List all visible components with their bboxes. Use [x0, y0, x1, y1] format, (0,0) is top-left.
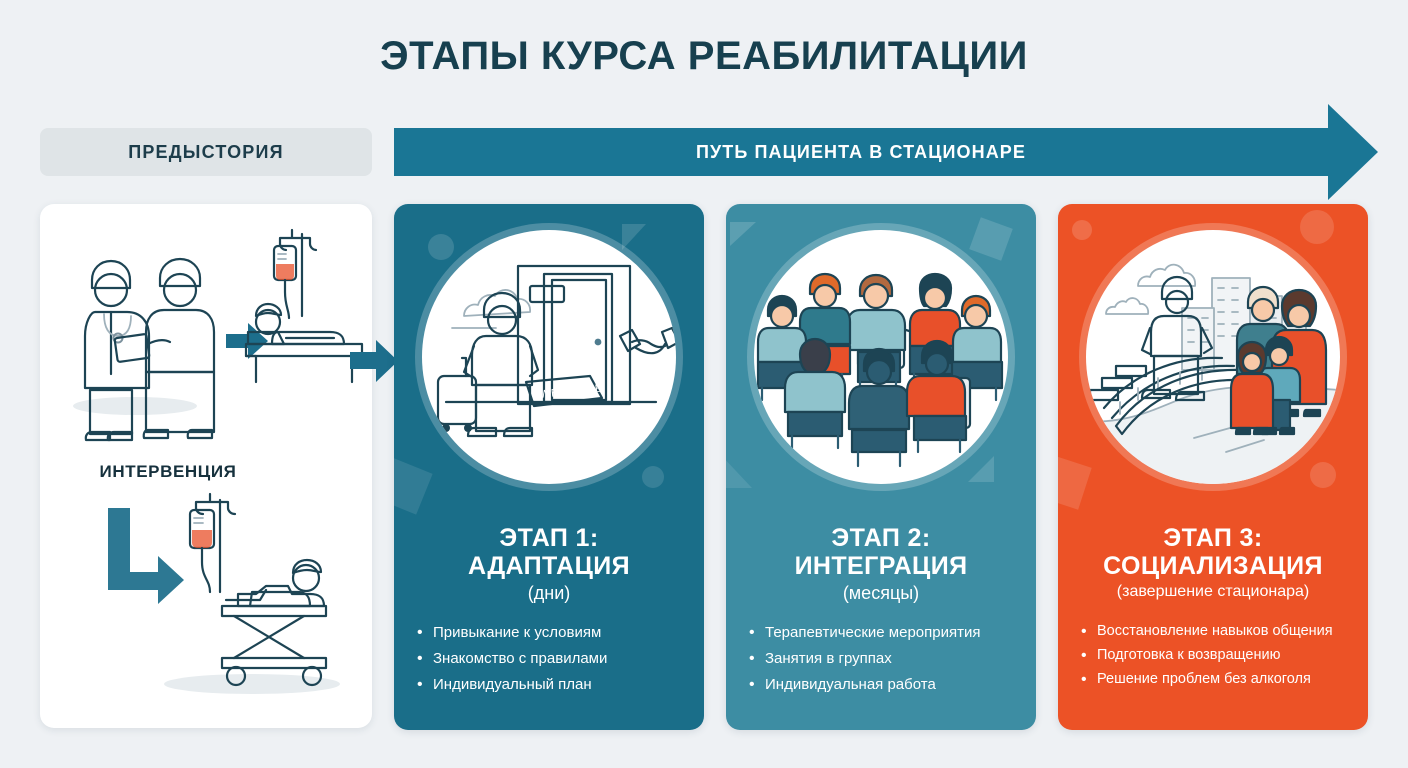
decor-circle: [1072, 220, 1092, 240]
list-item: Знакомство с правилами: [416, 648, 696, 670]
page-title: ЭТАПЫ КУРСА РЕАБИЛИТАЦИИ: [0, 34, 1408, 79]
card-1-name: АДАПТАЦИЯ: [404, 552, 694, 580]
decor-triangle: [968, 456, 994, 482]
list-item: Привыкание к условиям: [416, 622, 696, 644]
intervention-illustration: [40, 204, 372, 454]
card-3-duration: (завершение стационара): [1068, 580, 1358, 604]
decor-circle: [1310, 462, 1336, 488]
flow-arrow-right-icon: [348, 338, 400, 384]
card-2-bullets: Терапевтические мероприятия Занятия в гр…: [748, 622, 1028, 699]
card-2-name: ИНТЕГРАЦИЯ: [736, 552, 1026, 580]
list-item: Занятия в группах: [748, 648, 1028, 670]
list-item: Индивидуальный план: [416, 674, 696, 696]
list-item: Подготовка к возвращению: [1080, 646, 1360, 665]
detox-illustration: [122, 474, 372, 704]
socialization-illustration: [1086, 230, 1340, 484]
intervention-label: ИНТЕРВЕНЦИЯ: [58, 462, 278, 482]
prehistory-badge: ПРЕДЫСТОРИЯ: [40, 128, 372, 176]
infographic-root: ЭТАПЫ КУРСА РЕАБИЛИТАЦИИ ПРЕДЫСТОРИЯ ПУТ…: [0, 0, 1408, 768]
list-item: Решение проблем без алкоголя: [1080, 670, 1360, 689]
decor-circle: [642, 466, 664, 488]
decor-square: [1058, 454, 1092, 509]
journey-arrow-icon: [1328, 104, 1378, 200]
decor-triangle: [622, 224, 646, 250]
card-3-stage: ЭТАП 3:: [1068, 524, 1358, 552]
card-1-duration: (дни): [404, 580, 694, 607]
card-2-heading: ЭТАП 2: ИНТЕГРАЦИЯ (месяцы): [736, 524, 1026, 607]
stage-card-1[interactable]: WELCOME: [394, 204, 704, 730]
list-item: Восстановление навыков общения: [1080, 622, 1360, 641]
prehistory-label: ПРЕДЫСТОРИЯ: [128, 142, 284, 163]
stage-card-3[interactable]: ЭТАП 3: СОЦИАЛИЗАЦИЯ (завершение стацион…: [1058, 204, 1368, 730]
stage-card-2[interactable]: ЭТАП 2: ИНТЕГРАЦИЯ (месяцы) Терапевтичес…: [726, 204, 1036, 730]
integration-illustration: [754, 230, 1008, 484]
journey-banner: ПУТЬ ПАЦИЕНТА В СТАЦИОНАРЕ: [394, 128, 1328, 176]
list-item: Терапевтические мероприятия: [748, 622, 1028, 644]
decor-circle: [428, 234, 454, 260]
card-1-bullets: Привыкание к условиям Знакомство с прави…: [416, 622, 696, 699]
card-1-heading: ЭТАП 1: АДАПТАЦИЯ (дни): [404, 524, 694, 607]
decor-triangle: [730, 222, 756, 246]
decor-triangle: [726, 454, 752, 488]
card-2-stage: ЭТАП 2:: [736, 524, 1026, 552]
card-1-stage: ЭТАП 1:: [404, 524, 694, 552]
card-3-name: СОЦИАЛИЗАЦИЯ: [1068, 552, 1358, 580]
card-2-duration: (месяцы): [736, 580, 1026, 607]
journey-label: ПУТЬ ПАЦИЕНТА В СТАЦИОНАРЕ: [696, 142, 1026, 163]
decor-square: [969, 217, 1013, 261]
prehistory-panel: ИНТЕРВЕНЦИЯ ДЕТОКСИКАЦИЯ: [40, 204, 372, 728]
adaptation-illustration: WELCOME: [422, 230, 676, 484]
decor-circle: [1300, 210, 1334, 244]
decor-square: [394, 457, 433, 514]
list-item: Индивидуальная работа: [748, 674, 1028, 696]
card-3-heading: ЭТАП 3: СОЦИАЛИЗАЦИЯ (завершение стацион…: [1068, 524, 1358, 604]
card-3-bullets: Восстановление навыков общения Подготовк…: [1080, 622, 1360, 694]
